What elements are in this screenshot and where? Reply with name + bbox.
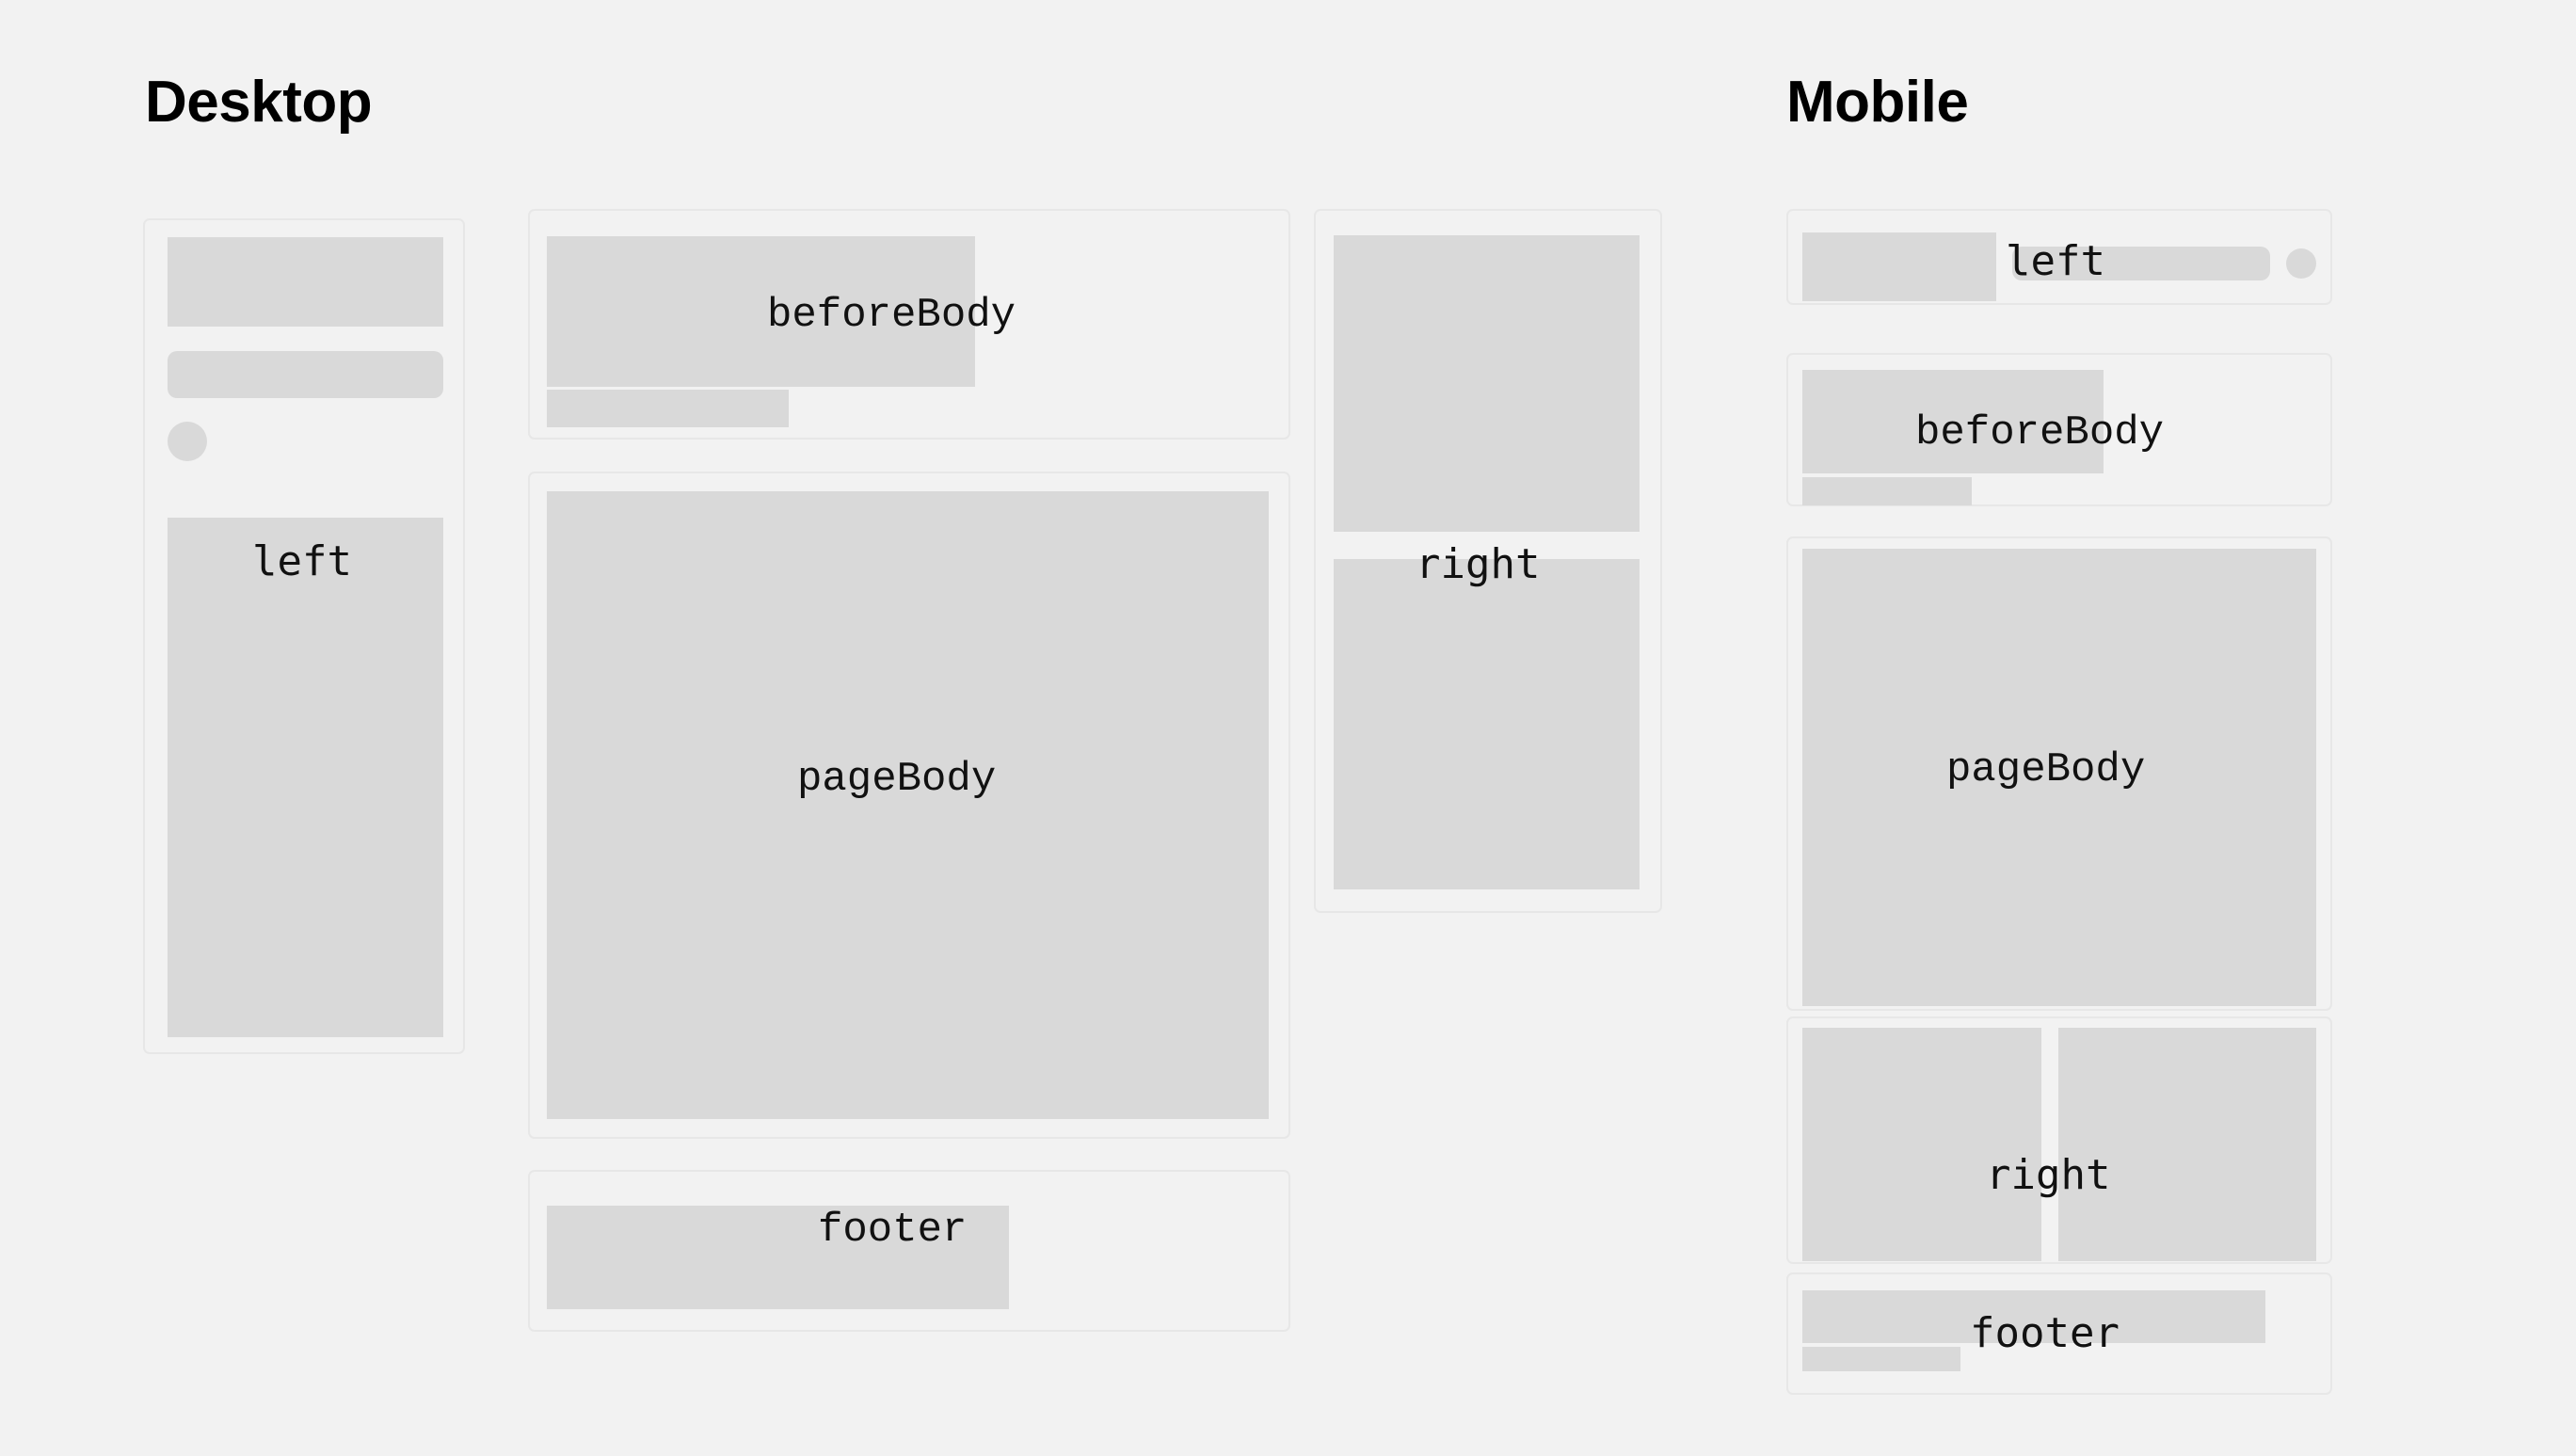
mobile-left-nav-pill — [2012, 247, 2270, 280]
desktop-beforebody-block — [547, 236, 975, 387]
mobile-footer-block — [1802, 1290, 2265, 1343]
section-title-mobile: Mobile — [1786, 73, 1968, 132]
mobile-left-avatar-dot — [2286, 248, 2316, 279]
desktop-left-nav-block — [168, 237, 443, 327]
desktop-right-bottom-block — [1334, 559, 1640, 889]
desktop-footer-bar — [547, 1268, 775, 1305]
wireframe-canvas: Desktop left beforeBody pageBody footer … — [0, 0, 2576, 1456]
mobile-pagebody-block — [1802, 549, 2316, 1006]
mobile-beforebody-block — [1802, 370, 2104, 473]
mobile-beforebody-bar — [1802, 477, 1972, 505]
desktop-pagebody-block — [547, 491, 1269, 1119]
desktop-left-avatar-dot — [168, 422, 207, 461]
section-title-desktop: Desktop — [145, 73, 372, 132]
desktop-beforebody-bar — [547, 390, 789, 427]
desktop-left-nav-pill — [168, 351, 443, 398]
mobile-right-left-block — [1802, 1028, 2041, 1261]
mobile-left-nav-block — [1802, 232, 1996, 301]
desktop-right-top-block — [1334, 235, 1640, 532]
desktop-left-content-block — [168, 518, 443, 1037]
mobile-right-right-block — [2058, 1028, 2316, 1261]
mobile-footer-bar — [1802, 1347, 1960, 1371]
